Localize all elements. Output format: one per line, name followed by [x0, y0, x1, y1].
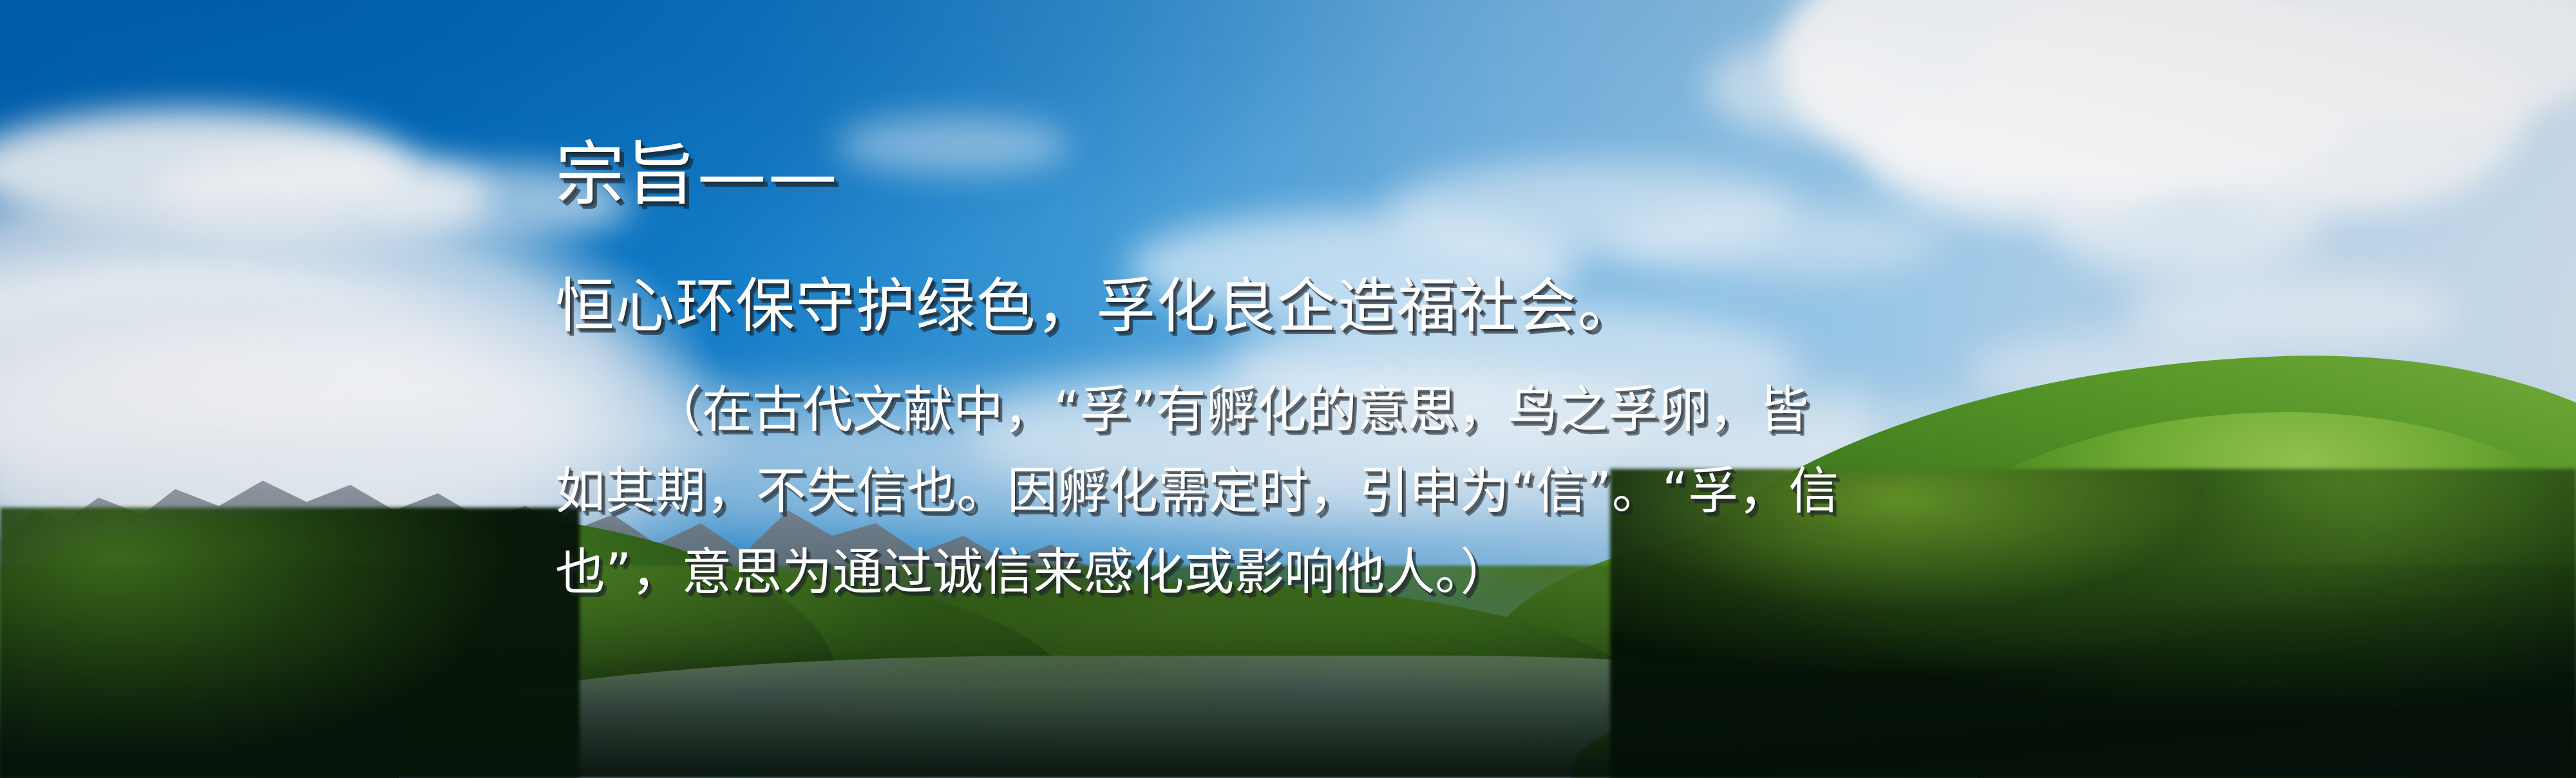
- cloud-wisp-top-centre: [837, 116, 1069, 174]
- cumulus-cloud-upper-right-6: [1707, 39, 1919, 135]
- cloud-wisp-mid-1: [1610, 206, 1945, 277]
- cumulus-cloud-upper-right-7: [2048, 167, 2325, 277]
- foreground-foliage-left: [0, 508, 580, 778]
- mission-hero-banner: 宗旨—— 恒心环保守护绿色，孚化良企造福社会。 （在古代文献中，“孚”有孵化的意…: [0, 0, 2576, 778]
- foreground-foliage-right: [1610, 469, 2576, 778]
